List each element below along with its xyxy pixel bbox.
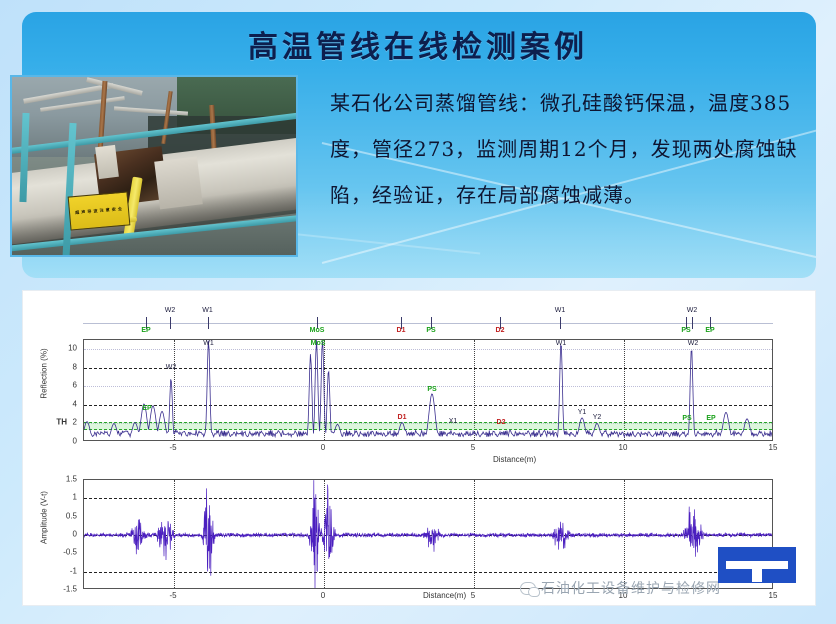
reflection-y-axis-label: Reflection (%) [40,329,49,419]
ruler-marker-label: EP [705,327,714,334]
ruler-marker-label: W2 [165,307,176,314]
ruler-marker-label: D2 [496,327,505,334]
y-tick-label: 8 [73,362,77,371]
ruler-marker-label: PS [681,327,690,334]
wechat-icon [520,582,536,595]
plot-marker-label: W1 [203,340,214,347]
x-tick-label: 5 [471,443,475,452]
reflection-plot: EPW2W1MoSD1PSX1D2W1Y1Y2W2PSEP [83,339,773,441]
ruler-tick [208,317,209,329]
analysis-chart-panel: EPW2W1MoSD1PSD2W1W2PSEP 0246810TH Reflec… [22,290,816,606]
y-tick-label: -1.5 [63,585,77,594]
ruler-marker-label: W1 [202,307,213,314]
threshold-label: TH [56,417,67,426]
ruler-marker-label: PS [426,327,435,334]
y-tick-label: 1 [73,493,77,502]
x-tick-label: 0 [321,591,325,600]
y-tick-label: 0 [73,437,77,446]
y-tick-label: 6 [73,381,77,390]
ruler-marker-label: MoS [310,327,325,334]
ruler-tick [560,317,561,329]
y-tick-label: 0 [73,530,77,539]
reflection-y-axis-ticks: 0246810TH [23,339,81,441]
amplitude-plot [83,479,773,589]
ruler-tick [170,317,171,329]
plot-marker-label: MoS [311,340,326,347]
x-tick-label: 0 [321,443,325,452]
y-tick-label: 2 [73,418,77,427]
plot-marker-label: W2 [166,364,177,371]
ruler-marker-label: D1 [397,327,406,334]
plot-marker-label: D2 [497,419,506,426]
plot-marker-label: PS [682,415,691,422]
photo-warning-sign: 超 声 导 波 注 意 安 全 [67,192,129,231]
amplitude-y-axis-ticks: -1.5-1-0.500.511.5 [23,479,81,589]
amplitude-waveform [84,480,773,589]
x-tick-label: 5 [471,591,475,600]
x-tick-label: -5 [169,443,176,452]
amplitude-x-axis-label: Distance(m) [423,591,466,600]
ruler-marker-label: W2 [687,307,698,314]
reflection-x-axis-label: Distance(m) [493,455,536,464]
plot-marker-label: W1 [556,340,567,347]
ruler-marker-label: W1 [555,307,566,314]
photo-insulation-patch [154,156,202,209]
y-tick-label: 0.5 [66,511,77,520]
y-tick-label: -0.5 [63,548,77,557]
plot-marker-label: EP [142,405,151,412]
plot-marker-label: W2 [688,340,699,347]
warning-sign-text: 超 声 导 波 注 意 安 全 [75,207,123,216]
watermark-label: 石油化工设备维护与检修网 [541,578,721,598]
page-title: 高温管线在线检测案例 [0,22,836,66]
ruler-tick [692,317,693,329]
y-tick-label: 10 [68,344,77,353]
x-tick-label: 15 [769,443,778,452]
ruler-marker-label: EP [141,327,150,334]
plot-marker-label: Y2 [593,414,602,421]
site-watermark: 石油化工设备维护与检修网 [520,578,721,598]
x-tick-label: -5 [169,591,176,600]
plot-marker-label: Y1 [578,409,587,416]
y-tick-label: 4 [73,399,77,408]
ruler-baseline [83,323,773,324]
x-tick-label: 15 [769,591,778,600]
y-tick-label: -1 [70,566,77,575]
plot-marker-label: PS [427,386,436,393]
marker-ruler: EPW2W1MoSD1PSD2W1W2PSEP [83,307,773,335]
photo-insulation-patch [95,145,119,179]
brand-logo-mark [726,561,788,569]
brand-logo [718,547,796,583]
pipeline-photo: 超 声 导 波 注 意 安 全 [10,75,298,257]
amplitude-y-axis-label: Amplitude (V-t) [40,471,49,565]
y-tick-label: 1.5 [66,475,77,484]
slide-body-text: 某石化公司蒸馏管线：微孔硅酸钙保温，温度385度，管径273，监测周期12个月，… [330,80,800,218]
plot-marker-label: X1 [449,418,458,425]
plot-marker-label: D1 [398,414,407,421]
plot-marker-label: EP [706,415,715,422]
x-tick-label: 10 [619,443,628,452]
